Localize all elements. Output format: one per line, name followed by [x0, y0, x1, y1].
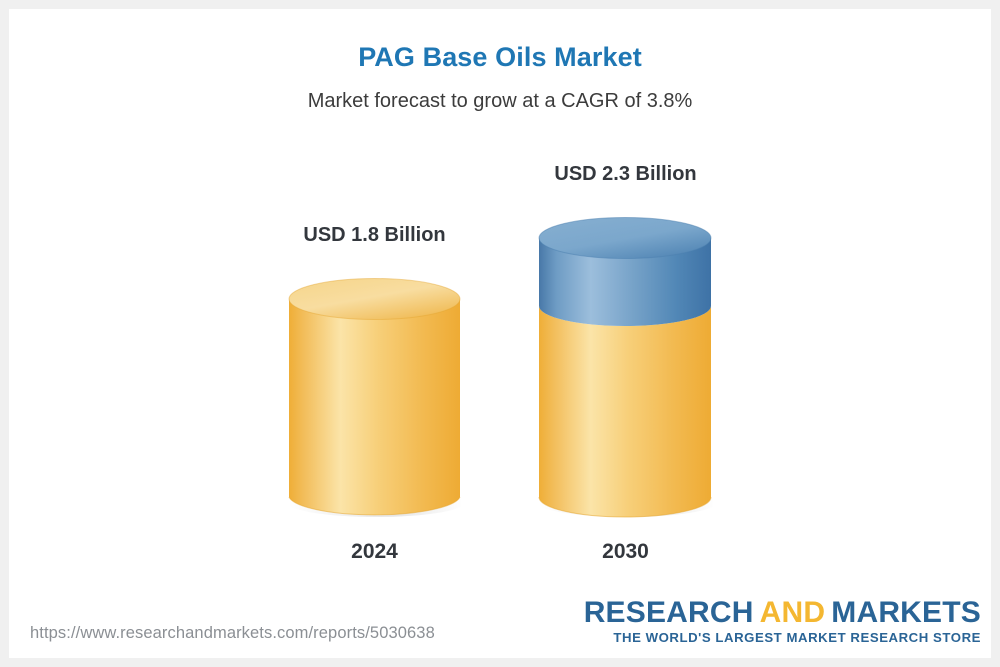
research-and-markets-logo[interactable]: RESEARCHANDMARKETS THE WORLD'S LARGEST M…	[584, 597, 981, 646]
logo-wordmark: RESEARCHANDMARKETS	[584, 597, 981, 629]
bar-category-label-2030: 2030	[538, 540, 713, 564]
logo-word-research: RESEARCH	[584, 596, 754, 629]
bar-chart-plot: USD 1.8 Billion	[9, 9, 991, 658]
cylinder-2030	[538, 216, 713, 519]
logo-word-markets: MARKETS	[831, 596, 981, 629]
cylinder-2024-svg	[288, 277, 461, 519]
cylinder-2024	[288, 277, 461, 519]
logo-word-and: AND	[760, 596, 826, 629]
bar-value-label-2024: USD 1.8 Billion	[288, 224, 461, 247]
bar-value-label-2030: USD 2.3 Billion	[538, 163, 713, 186]
bar-group-2024: USD 1.8 Billion	[288, 224, 461, 569]
report-url-link[interactable]: https://www.researchandmarkets.com/repor…	[30, 624, 435, 643]
bar-group-2030: USD 2.3 Billion	[538, 163, 713, 569]
logo-tagline: THE WORLD'S LARGEST MARKET RESEARCH STOR…	[584, 630, 981, 645]
chart-canvas: PAG Base Oils Market Market forecast to …	[9, 9, 991, 658]
cylinder-2030-svg	[538, 216, 713, 519]
bar-category-label-2024: 2024	[288, 540, 461, 564]
image-frame: PAG Base Oils Market Market forecast to …	[0, 0, 1000, 667]
